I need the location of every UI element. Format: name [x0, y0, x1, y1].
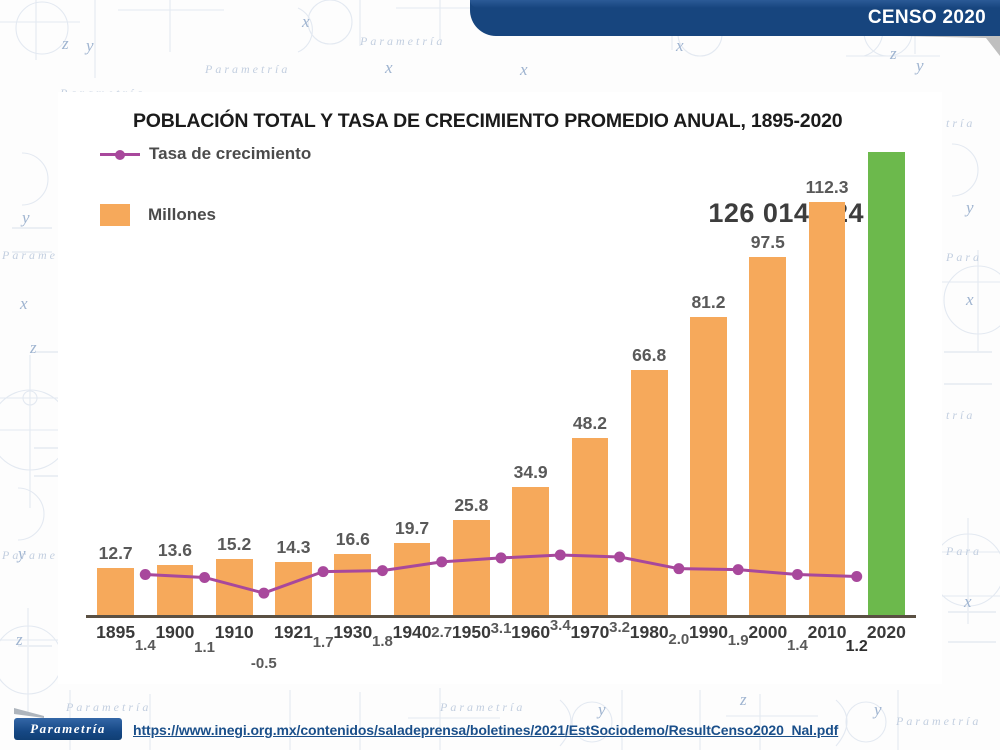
watermark-letter-z: z — [62, 34, 69, 54]
plot-area: 12.713.615.214.316.619.725.834.948.266.8… — [58, 92, 942, 684]
rate-point-1940-1950 — [436, 556, 447, 567]
parametria-logo-text: Parametría — [30, 721, 106, 737]
rate-value-2010-2020: 1.2 — [827, 638, 887, 656]
watermark-letter-x-2: x — [385, 58, 393, 78]
watermark-letter-x-6: x — [966, 290, 974, 310]
rate-point-1900-1910 — [199, 572, 210, 583]
watermark-word: Parametría — [360, 34, 445, 49]
watermark-letter-y-2: y — [916, 56, 924, 76]
rate-value-1900-1910: 1.1 — [175, 639, 235, 656]
rate-value-1970-1980: 3.2 — [590, 619, 650, 636]
watermark-letter-x: x — [302, 12, 310, 32]
rate-value-1895-1900: 1.4 — [115, 637, 175, 654]
parametria-logo[interactable]: Parametría — [14, 718, 122, 740]
chart-panel: POBLACIÓN TOTAL Y TASA DE CRECIMIENTO PR… — [58, 92, 942, 684]
rate-point-2010-2020 — [851, 571, 862, 582]
rate-value-1921-1930: 1.7 — [293, 634, 353, 651]
footer-fold-shadow — [14, 708, 44, 718]
watermark-letter-x-4: x — [676, 36, 684, 56]
footer: Parametría https://www.inegi.org.mx/cont… — [0, 698, 1000, 750]
rate-point-1930-1940 — [377, 565, 388, 576]
watermark-letter-y-5: y — [966, 198, 974, 218]
banner-fold-shadow — [900, 36, 1000, 58]
watermark-letter-x-5: x — [20, 294, 28, 314]
rate-point-1960-1970 — [555, 550, 566, 561]
rate-value-1980-1990: 2.0 — [649, 631, 709, 648]
watermark-word: Parametría — [205, 62, 290, 77]
watermark-word: Para — [946, 250, 982, 265]
rate-point-1950-1960 — [496, 552, 507, 563]
rate-point-1980-1990 — [673, 563, 684, 574]
slide-root: z y x x x x z y y x z y z y x x y y z Pa… — [0, 0, 1000, 750]
watermark-letter-x-7: x — [964, 592, 972, 612]
rate-value-1950-1960: 3.1 — [471, 620, 531, 637]
rate-point-2000-2010 — [792, 569, 803, 580]
watermark-letter-z-3: z — [30, 338, 37, 358]
rate-value-1940-1950: 2.7 — [412, 624, 472, 641]
growth-rate-line — [86, 92, 916, 615]
watermark-word: tría — [946, 116, 975, 131]
rate-point-1895-1900 — [140, 569, 151, 580]
watermark-word: Para — [946, 544, 982, 559]
rate-value-1990-2000: 1.9 — [708, 632, 768, 649]
watermark-letter-y-3: y — [22, 208, 30, 228]
watermark-letter-y: y — [86, 36, 94, 56]
rate-value-1910-1921: -0.5 — [234, 655, 294, 672]
watermark-letter-z-2: z — [890, 44, 897, 64]
source-url-link[interactable]: https://www.inegi.org.mx/contenidos/sala… — [133, 722, 838, 738]
banner-title: CENSO 2020 — [868, 7, 986, 29]
watermark-word: tría — [946, 408, 975, 423]
rate-point-1990-2000 — [733, 564, 744, 575]
rate-point-1921-1930 — [318, 566, 329, 577]
rate-value-1930-1940: 1.8 — [352, 633, 412, 650]
watermark-letter-z-4: z — [16, 630, 23, 650]
rate-point-1970-1980 — [614, 551, 625, 562]
top-banner: CENSO 2020 — [470, 0, 1000, 36]
x-axis-line — [86, 615, 916, 618]
watermark-letter-x-3: x — [520, 60, 528, 80]
rate-value-2000-2010: 1.4 — [767, 637, 827, 654]
rate-point-1910-1921 — [258, 588, 269, 599]
rate-value-1960-1970: 3.4 — [530, 617, 590, 634]
